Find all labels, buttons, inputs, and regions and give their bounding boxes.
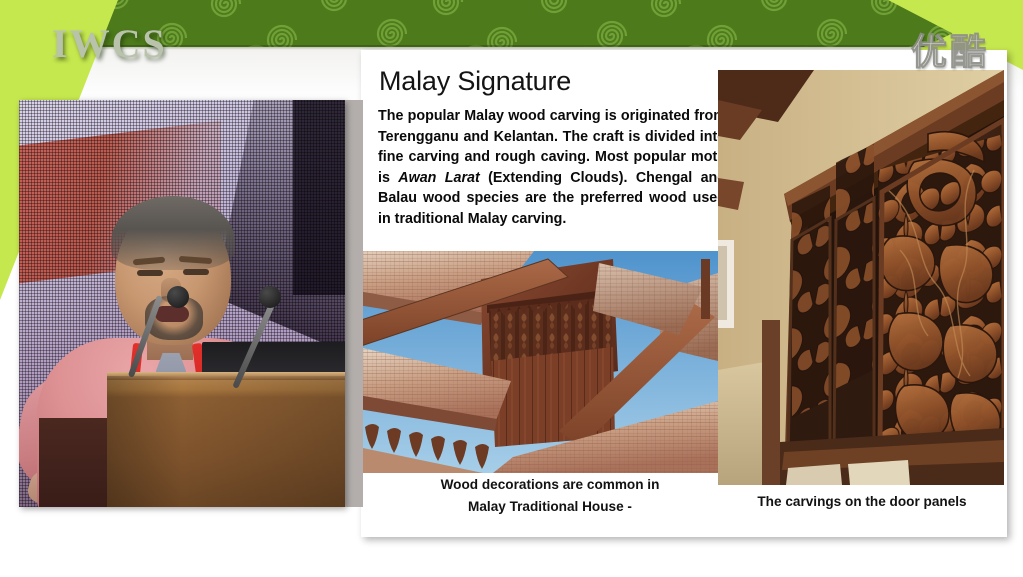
speaker-mouth	[155, 306, 189, 322]
slide-title: Malay Signature	[379, 66, 571, 97]
microphone-head-left	[167, 286, 189, 308]
podium-shading	[107, 376, 345, 507]
slide-body-italic-term: Awan Larat	[398, 170, 479, 186]
slide-body-text: The popular Malay wood carving is origin…	[378, 106, 726, 230]
caption-right: The carvings on the door panels	[721, 494, 1003, 509]
video-player-frame: IWCS 优酷 Malay Signature The popular Mala…	[0, 0, 1023, 577]
caption-left: Wood decorations are common in Malay Tra…	[385, 474, 715, 518]
video-side-gutter	[345, 100, 363, 507]
youku-watermark: 优酷	[911, 23, 989, 75]
podium-side-shadow	[39, 418, 111, 507]
carved-door-panel-image	[718, 70, 1004, 485]
presenter-video-pane	[19, 100, 345, 507]
microphone-head-right	[259, 286, 281, 308]
speaker-eye-left	[137, 270, 163, 276]
caption-left-line1: Wood decorations are common in	[385, 474, 715, 496]
caption-left-line2: Malay Traditional House -	[385, 496, 715, 518]
wood-carving-illustration	[718, 70, 1004, 485]
malay-house-roof-image	[363, 251, 718, 473]
iwcs-conference-logo: IWCS	[52, 20, 167, 67]
speaker-eye-right	[183, 269, 209, 275]
roof-illustration	[363, 251, 718, 473]
presentation-slide: Malay Signature The popular Malay wood c…	[361, 50, 1007, 537]
